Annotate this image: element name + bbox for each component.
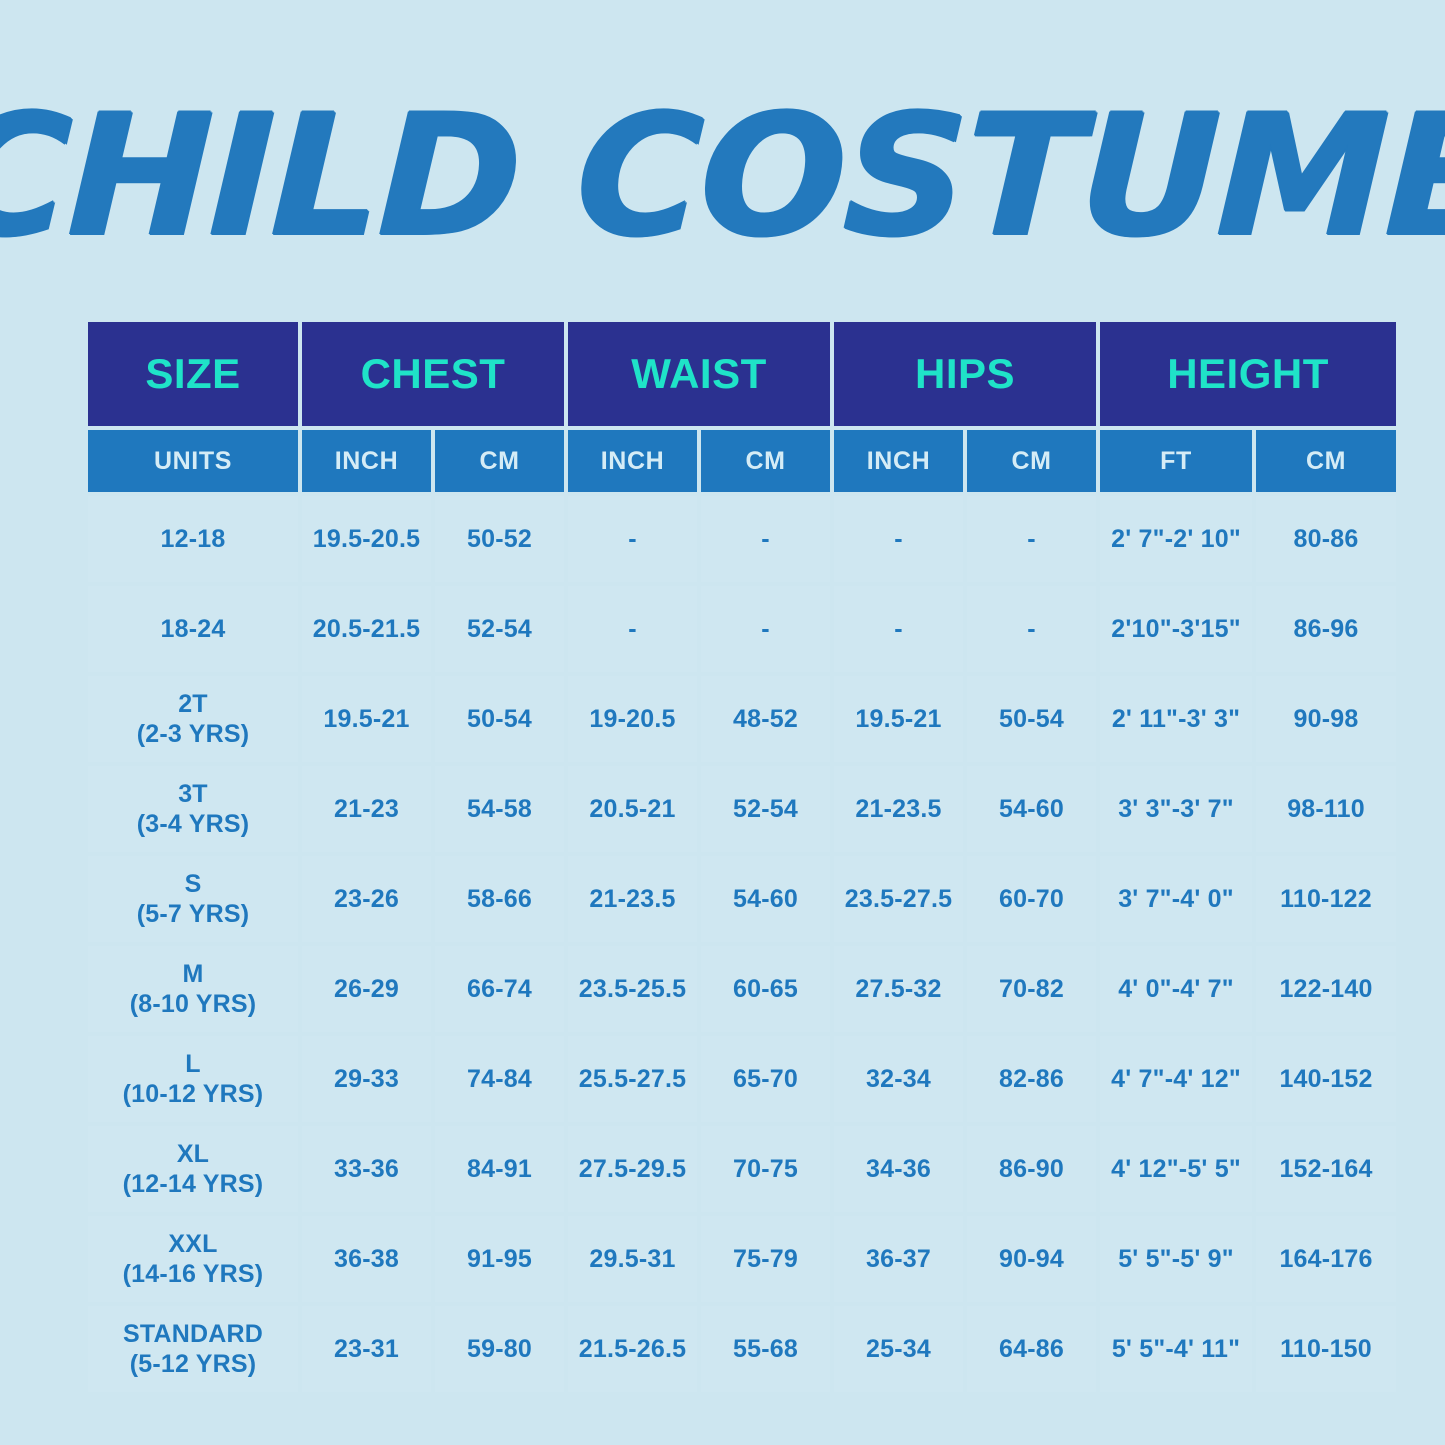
group-header-hips: HIPS [834,322,1096,426]
cell-hips-inch: - [834,586,963,672]
cell-waist-inch: 25.5-27.5 [568,1036,697,1122]
group-header-chest: CHEST [302,322,564,426]
cell-chest-inch: 21-23 [302,766,431,852]
cell-hips-inch: 34-36 [834,1126,963,1212]
sub-header-hips-cm: CM [967,430,1096,492]
cell-hips-cm: - [967,496,1096,582]
cell-chest-cm: 58-66 [435,856,564,942]
cell-waist-inch: 21-23.5 [568,856,697,942]
cell-height-cm: 110-122 [1256,856,1396,942]
cell-size: STANDARD(5-12 YRS) [88,1306,298,1392]
cell-hips-cm: 90-94 [967,1216,1096,1302]
cell-waist-cm: 75-79 [701,1216,830,1302]
size-label: 2T [90,689,296,720]
cell-size: XXL(14-16 YRS) [88,1216,298,1302]
cell-chest-cm: 50-52 [435,496,564,582]
sub-header-waist-cm: CM [701,430,830,492]
cell-hips-inch: 32-34 [834,1036,963,1122]
cell-height-cm: 80-86 [1256,496,1396,582]
cell-size: XL(12-14 YRS) [88,1126,298,1212]
size-age-label: (14-16 YRS) [90,1259,296,1290]
group-header-waist: WAIST [568,322,830,426]
cell-hips-cm: 60-70 [967,856,1096,942]
page-title: CHILD COSTUME [0,58,1445,293]
table-row: XL(12-14 YRS)33-3684-9127.5-29.570-7534-… [88,1126,1396,1212]
cell-waist-inch: - [568,496,697,582]
cell-hips-inch: 19.5-21 [834,676,963,762]
sub-header-waist-inch: INCH [568,430,697,492]
cell-height-ft: 3' 3"-3' 7" [1100,766,1252,852]
cell-height-ft: 2' 7"-2' 10" [1100,496,1252,582]
cell-waist-inch: 23.5-25.5 [568,946,697,1032]
table-row: STANDARD(5-12 YRS)23-3159-8021.5-26.555-… [88,1306,1396,1392]
cell-waist-cm: 52-54 [701,766,830,852]
cell-waist-cm: 60-65 [701,946,830,1032]
cell-waist-inch: - [568,586,697,672]
cell-height-cm: 152-164 [1256,1126,1396,1212]
cell-hips-inch: 25-34 [834,1306,963,1392]
cell-size: S(5-7 YRS) [88,856,298,942]
cell-hips-cm: 70-82 [967,946,1096,1032]
cell-hips-inch: 36-37 [834,1216,963,1302]
cell-chest-inch: 19.5-20.5 [302,496,431,582]
page-title-text: CHILD COSTUME [0,92,1445,260]
size-age-label: (2-3 YRS) [90,719,296,750]
cell-size: 2T(2-3 YRS) [88,676,298,762]
cell-height-ft: 2' 11"-3' 3" [1100,676,1252,762]
cell-height-ft: 5' 5"-4' 11" [1100,1306,1252,1392]
group-header-height: HEIGHT [1100,322,1396,426]
sub-header-height-cm: CM [1256,430,1396,492]
cell-hips-inch: 23.5-27.5 [834,856,963,942]
cell-waist-cm: 65-70 [701,1036,830,1122]
cell-hips-cm: 54-60 [967,766,1096,852]
cell-chest-inch: 23-26 [302,856,431,942]
cell-height-cm: 110-150 [1256,1306,1396,1392]
cell-height-ft: 4' 12"-5' 5" [1100,1126,1252,1212]
cell-waist-inch: 20.5-21 [568,766,697,852]
cell-waist-cm: 70-75 [701,1126,830,1212]
size-age-label: (12-14 YRS) [90,1169,296,1200]
table-body: 12-1819.5-20.550-52----2' 7"-2' 10"80-86… [88,496,1396,1392]
cell-height-cm: 86-96 [1256,586,1396,672]
size-chart-page: CHILD COSTUME SIZE CHEST WAIST HIPS HEIG… [0,0,1445,1445]
cell-hips-cm: 82-86 [967,1036,1096,1122]
cell-height-ft: 2'10"-3'15" [1100,586,1252,672]
table-row: L(10-12 YRS)29-3374-8425.5-27.565-7032-3… [88,1036,1396,1122]
cell-chest-cm: 52-54 [435,586,564,672]
size-label: 3T [90,779,296,810]
size-label: STANDARD [90,1319,296,1350]
size-label: XXL [90,1229,296,1260]
size-label: XL [90,1139,296,1170]
cell-chest-cm: 84-91 [435,1126,564,1212]
cell-height-cm: 90-98 [1256,676,1396,762]
cell-hips-inch: 21-23.5 [834,766,963,852]
cell-size: 18-24 [88,586,298,672]
cell-hips-inch: - [834,496,963,582]
size-age-label: (8-10 YRS) [90,989,296,1020]
size-label: S [90,869,296,900]
cell-waist-inch: 27.5-29.5 [568,1126,697,1212]
sub-header-chest-cm: CM [435,430,564,492]
cell-waist-inch: 29.5-31 [568,1216,697,1302]
cell-waist-cm: - [701,586,830,672]
group-header-size: SIZE [88,322,298,426]
cell-height-ft: 5' 5"-5' 9" [1100,1216,1252,1302]
cell-chest-cm: 91-95 [435,1216,564,1302]
cell-hips-cm: - [967,586,1096,672]
cell-size: M(8-10 YRS) [88,946,298,1032]
cell-size: 3T(3-4 YRS) [88,766,298,852]
cell-size: 12-18 [88,496,298,582]
cell-height-ft: 3' 7"-4' 0" [1100,856,1252,942]
cell-chest-inch: 20.5-21.5 [302,586,431,672]
table-row: 18-2420.5-21.552-54----2'10"-3'15"86-96 [88,586,1396,672]
cell-chest-cm: 74-84 [435,1036,564,1122]
cell-height-cm: 98-110 [1256,766,1396,852]
size-age-label: (3-4 YRS) [90,809,296,840]
cell-size: L(10-12 YRS) [88,1036,298,1122]
size-age-label: (5-7 YRS) [90,899,296,930]
table-row: S(5-7 YRS)23-2658-6621-23.554-6023.5-27.… [88,856,1396,942]
sub-header-hips-inch: INCH [834,430,963,492]
cell-height-ft: 4' 0"-4' 7" [1100,946,1252,1032]
group-header-row: SIZE CHEST WAIST HIPS HEIGHT [88,322,1396,426]
table-row: 12-1819.5-20.550-52----2' 7"-2' 10"80-86 [88,496,1396,582]
cell-waist-cm: - [701,496,830,582]
cell-waist-cm: 54-60 [701,856,830,942]
cell-waist-cm: 55-68 [701,1306,830,1392]
sub-header-chest-inch: INCH [302,430,431,492]
cell-hips-cm: 86-90 [967,1126,1096,1212]
cell-height-cm: 122-140 [1256,946,1396,1032]
sub-header-row: UNITS INCH CM INCH CM INCH CM FT CM [88,430,1396,492]
size-label: L [90,1049,296,1080]
table-row: 2T(2-3 YRS)19.5-2150-5419-20.548-5219.5-… [88,676,1396,762]
size-label: M [90,959,296,990]
sub-header-height-ft: FT [1100,430,1252,492]
table-row: XXL(14-16 YRS)36-3891-9529.5-3175-7936-3… [88,1216,1396,1302]
table-row: M(8-10 YRS)26-2966-7423.5-25.560-6527.5-… [88,946,1396,1032]
cell-hips-inch: 27.5-32 [834,946,963,1032]
cell-chest-inch: 26-29 [302,946,431,1032]
cell-chest-inch: 36-38 [302,1216,431,1302]
cell-hips-cm: 64-86 [967,1306,1096,1392]
table-head: SIZE CHEST WAIST HIPS HEIGHT UNITS INCH … [88,322,1396,492]
size-label: 12-18 [90,524,296,555]
cell-hips-cm: 50-54 [967,676,1096,762]
cell-chest-inch: 23-31 [302,1306,431,1392]
cell-chest-cm: 66-74 [435,946,564,1032]
cell-waist-cm: 48-52 [701,676,830,762]
cell-waist-inch: 21.5-26.5 [568,1306,697,1392]
size-age-label: (5-12 YRS) [90,1349,296,1380]
table-row: 3T(3-4 YRS)21-2354-5820.5-2152-5421-23.5… [88,766,1396,852]
cell-height-ft: 4' 7"-4' 12" [1100,1036,1252,1122]
cell-chest-inch: 33-36 [302,1126,431,1212]
cell-chest-inch: 19.5-21 [302,676,431,762]
cell-chest-cm: 59-80 [435,1306,564,1392]
cell-chest-cm: 50-54 [435,676,564,762]
cell-height-cm: 140-152 [1256,1036,1396,1122]
cell-height-cm: 164-176 [1256,1216,1396,1302]
cell-waist-inch: 19-20.5 [568,676,697,762]
cell-chest-cm: 54-58 [435,766,564,852]
size-table-wrapper: SIZE CHEST WAIST HIPS HEIGHT UNITS INCH … [88,322,1358,1392]
size-table: SIZE CHEST WAIST HIPS HEIGHT UNITS INCH … [84,318,1400,1396]
size-age-label: (10-12 YRS) [90,1079,296,1110]
cell-chest-inch: 29-33 [302,1036,431,1122]
size-label: 18-24 [90,614,296,645]
sub-header-units: UNITS [88,430,298,492]
